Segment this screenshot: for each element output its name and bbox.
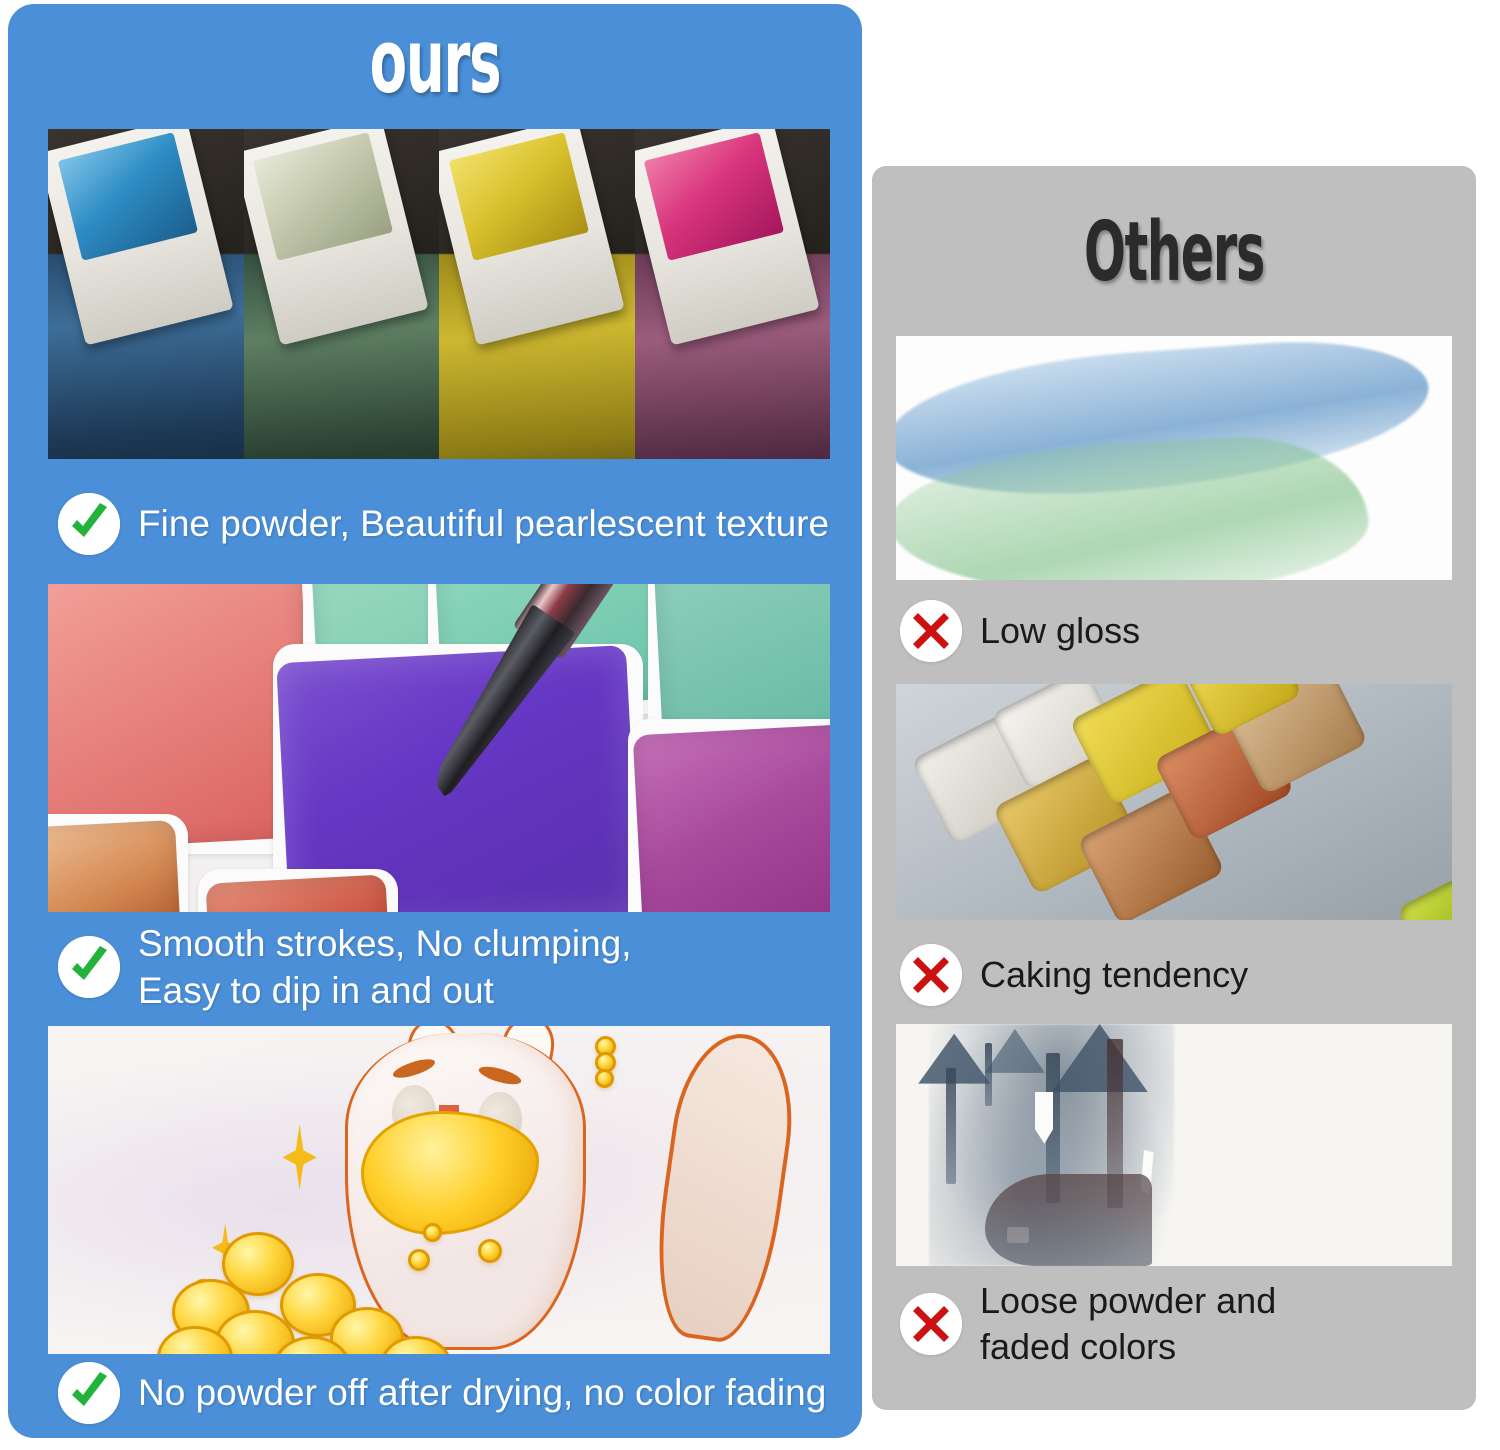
pearlescent-powder-pans-photo <box>48 129 830 459</box>
palette-with-brush-photo <box>48 584 830 912</box>
others-feature-2: Caking tendency <box>900 944 1248 1006</box>
gold-coin-pile <box>157 1210 517 1354</box>
faded-grey-tower-watercolor-photo <box>896 1024 1452 1266</box>
dull-blue-green-wash-photo <box>896 336 1452 580</box>
ours-feature-1: Fine powder, Beautiful pearlescent textu… <box>58 493 829 555</box>
cross-icon <box>900 1293 962 1355</box>
check-icon <box>58 1362 120 1424</box>
check-icon <box>58 936 120 998</box>
watercolor-cat-with-gold-coins-illustration <box>48 1026 830 1354</box>
pan-cell-blue <box>48 129 244 459</box>
ours-feature-1-label: Fine powder, Beautiful pearlescent textu… <box>138 500 829 547</box>
pan-cell-pink <box>635 129 831 459</box>
ours-feature-2: Smooth strokes, No clumping, Easy to dip… <box>58 920 632 1015</box>
pan-cell-silver-green <box>244 129 440 459</box>
ours-feature-3-label: No powder off after drying, no color fad… <box>138 1369 826 1416</box>
pan-cell-gold <box>439 129 635 459</box>
others-feature-3-label: Loose powder and faded colors <box>980 1278 1276 1370</box>
pan-magenta <box>633 723 830 912</box>
ours-feature-3: No powder off after drying, no color fad… <box>58 1362 826 1424</box>
cross-icon <box>900 944 962 1006</box>
ours-title: ours <box>170 18 699 106</box>
others-feature-2-label: Caking tendency <box>980 952 1248 998</box>
check-icon <box>58 493 120 555</box>
caked-metallic-paint-tray-photo <box>896 684 1452 920</box>
ours-panel: ours <box>8 4 862 1438</box>
others-title: Others <box>993 212 1355 294</box>
others-feature-1-label: Low gloss <box>980 608 1140 654</box>
others-panel: Others Low gloss <box>872 166 1476 1410</box>
pan-copper <box>48 820 181 912</box>
others-feature-3: Loose powder and faded colors <box>900 1278 1276 1370</box>
pan-teal <box>653 584 830 739</box>
ours-feature-2-label: Smooth strokes, No clumping, Easy to dip… <box>138 920 632 1015</box>
cross-icon <box>900 600 962 662</box>
others-feature-1: Low gloss <box>900 600 1140 662</box>
